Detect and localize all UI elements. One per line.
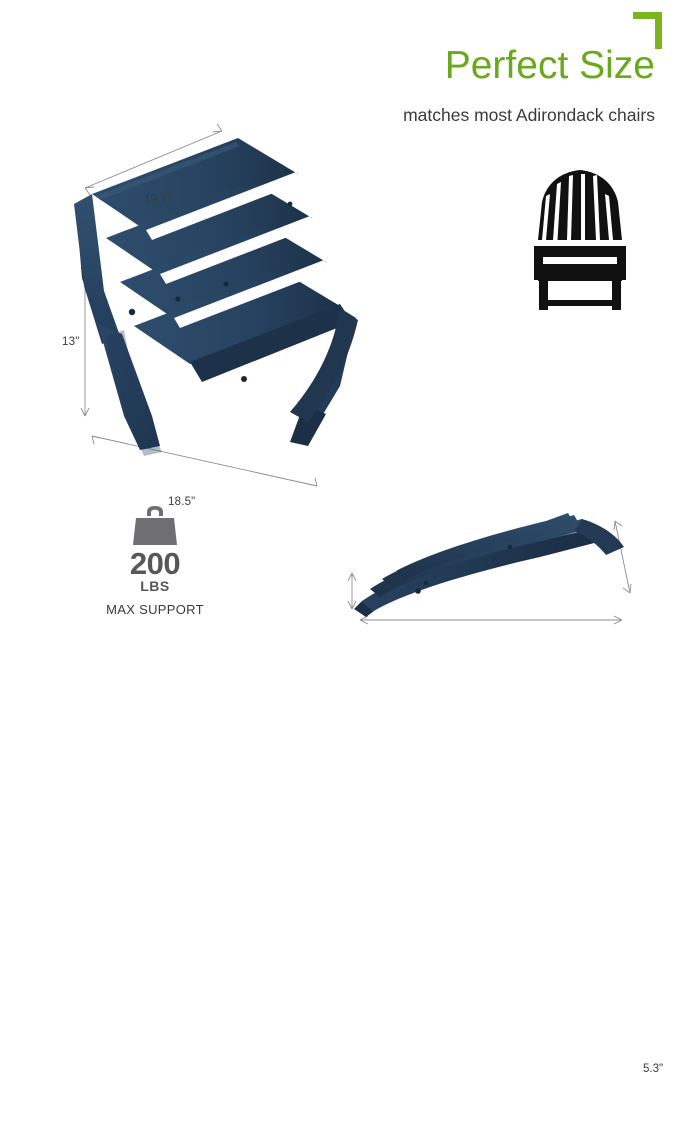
dimension-top-width: 19.7": [144, 194, 171, 206]
weight-icon: [132, 505, 178, 547]
max-support-caption: MAX SUPPORT: [70, 602, 240, 617]
max-support-unit: LBS: [70, 579, 240, 594]
page-title: Perfect Size: [300, 44, 655, 88]
folded-dimension-height: 5.3": [643, 1063, 663, 1075]
adirondack-chair-icon: [520, 168, 640, 333]
ottoman-footstool-icon: 19.7" 13" 18.5": [40, 86, 360, 426]
dimension-height: 13": [62, 336, 79, 348]
max-support-badge: 200 LBS MAX SUPPORT: [70, 505, 240, 617]
max-support-value: 200: [70, 549, 240, 579]
product-infographic: Perfect Size matches most Adirondack cha…: [0, 0, 679, 641]
ottoman-folded-icon: 19.7" 5.3" 22": [330, 485, 660, 635]
